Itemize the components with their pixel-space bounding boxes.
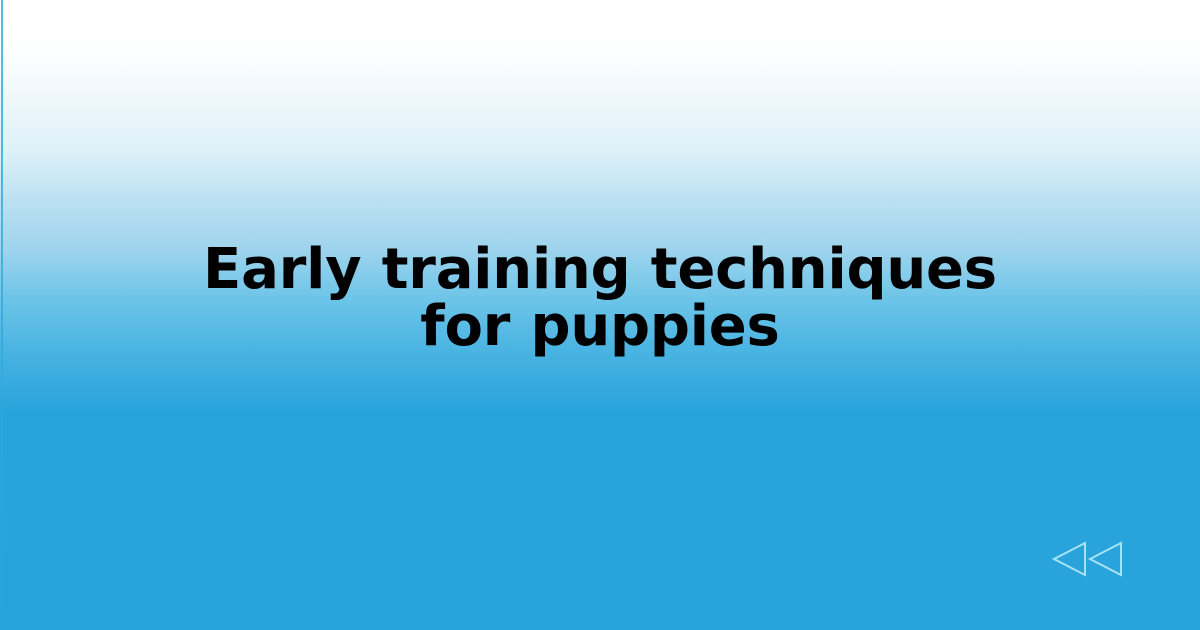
page-title-line-2: for puppies <box>420 294 779 359</box>
rewind-triangle-left-icon <box>1054 543 1085 575</box>
page-title: Early training techniquesfor puppies <box>170 241 1030 355</box>
banner-card: Early training techniquesfor puppies <box>0 0 1200 630</box>
rewind-triangle-right-icon <box>1090 543 1121 575</box>
rewind-icon[interactable] <box>1050 539 1130 579</box>
title-block: Early training techniquesfor puppies <box>0 0 1200 630</box>
page-title-line-1: Early training techniques <box>203 237 997 302</box>
